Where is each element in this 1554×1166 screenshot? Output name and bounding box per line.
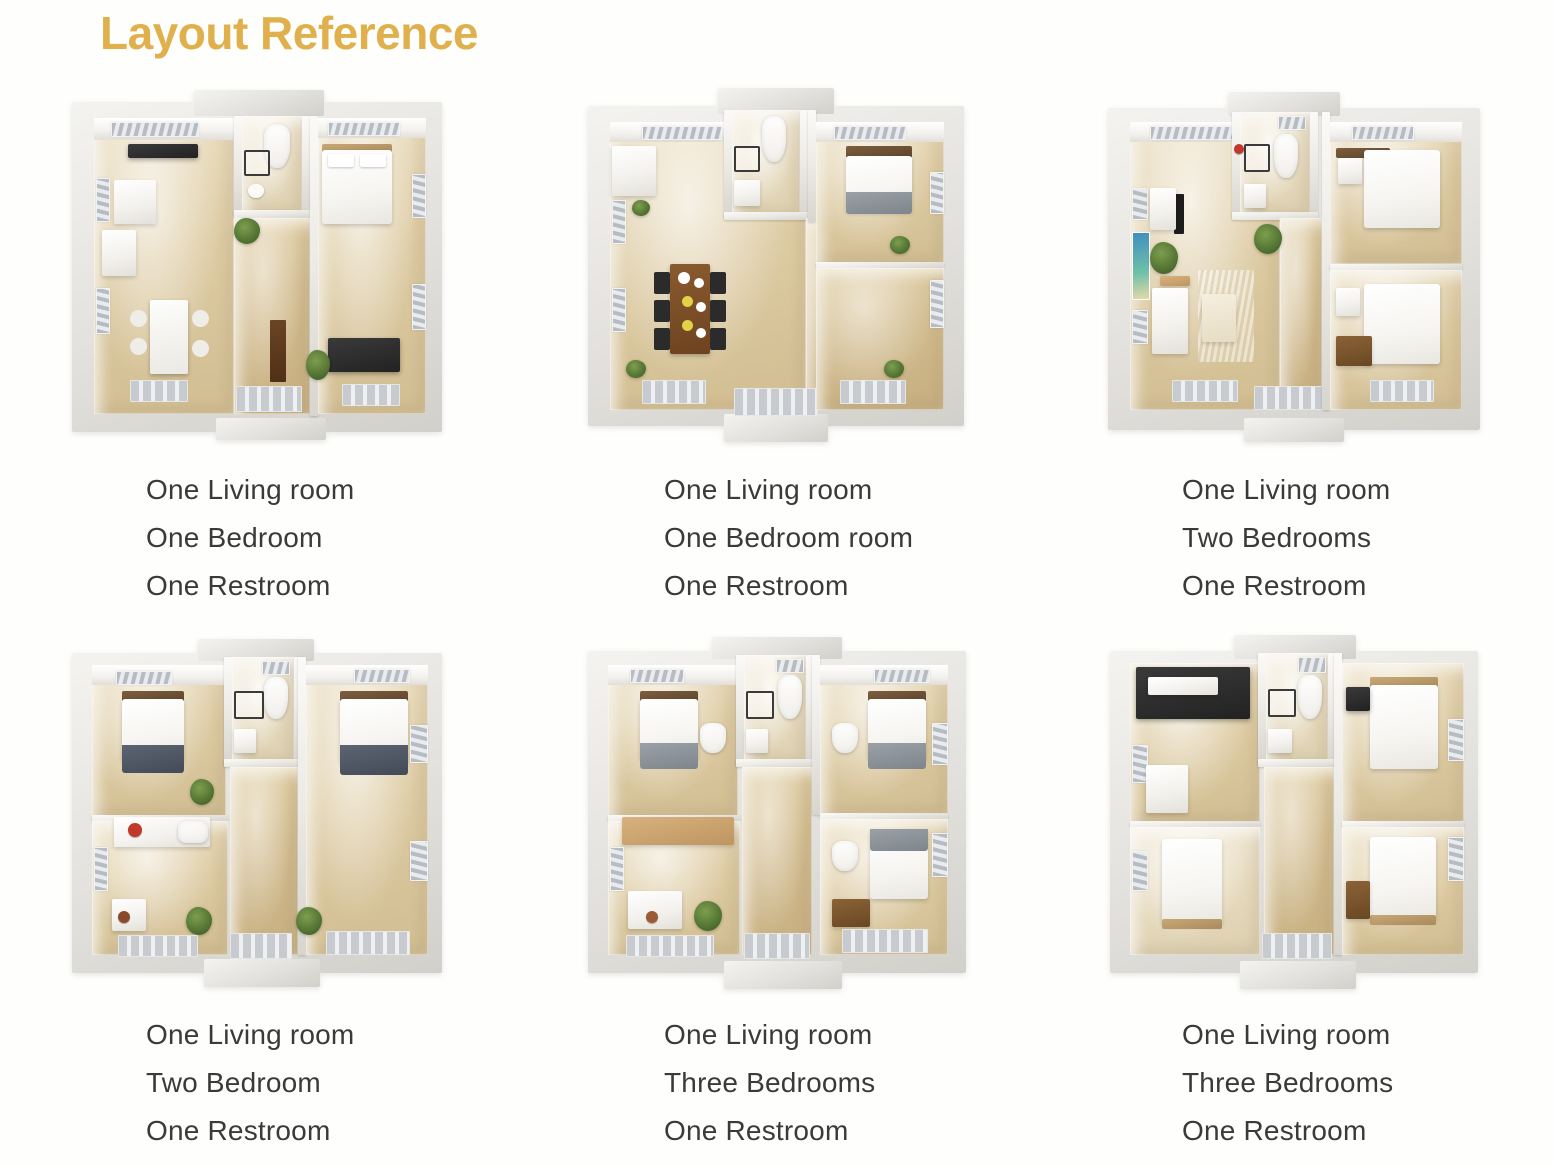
floor-plan-image-1 (66, 88, 452, 438)
floor-plan-image-2 (584, 88, 970, 438)
caption-line: One Restroom (146, 562, 452, 610)
caption-line: One Living room (664, 1011, 970, 1059)
plan-card-2[interactable]: One Living room One Bedroom room One Res… (518, 88, 1036, 633)
caption-line: Two Bedrooms (1182, 514, 1488, 562)
caption-line: Two Bedroom (146, 1059, 452, 1107)
plan-card-4[interactable]: One Living room Two Bedroom One Restroom (0, 633, 518, 1166)
caption-line: One Living room (1182, 466, 1488, 514)
plan-card-1[interactable]: One Living room One Bedroom One Restroom (0, 88, 518, 633)
caption-line: One Bedroom (146, 514, 452, 562)
plan-card-6[interactable]: One Living room Three Bedrooms One Restr… (1036, 633, 1554, 1166)
plan-grid: One Living room One Bedroom One Restroom (0, 88, 1554, 1166)
caption-line: One Restroom (664, 562, 970, 610)
plan-caption-3: One Living room Two Bedrooms One Restroo… (1102, 466, 1488, 610)
caption-line: One Restroom (664, 1107, 970, 1155)
caption-line: One Living room (1182, 1011, 1488, 1059)
page-title: Layout Reference (100, 8, 478, 59)
plan-caption-1: One Living room One Bedroom One Restroom (66, 466, 452, 610)
plan-card-5[interactable]: One Living room Three Bedrooms One Restr… (518, 633, 1036, 1166)
caption-line: Three Bedrooms (1182, 1059, 1488, 1107)
plan-caption-2: One Living room One Bedroom room One Res… (584, 466, 970, 610)
plan-caption-5: One Living room Three Bedrooms One Restr… (584, 1011, 970, 1155)
floor-plan-image-5 (584, 633, 970, 983)
caption-line: One Living room (146, 1011, 452, 1059)
floor-plan-image-6 (1102, 633, 1488, 983)
floor-plan-image-3 (1102, 88, 1488, 438)
caption-line: One Restroom (146, 1107, 452, 1155)
plan-caption-6: One Living room Three Bedrooms One Restr… (1102, 1011, 1488, 1155)
caption-line: One Bedroom room (664, 514, 970, 562)
caption-line: One Restroom (1182, 1107, 1488, 1155)
floor-plan-image-4 (66, 633, 452, 983)
caption-line: One Restroom (1182, 562, 1488, 610)
plan-card-3[interactable]: One Living room Two Bedrooms One Restroo… (1036, 88, 1554, 633)
caption-line: One Living room (664, 466, 970, 514)
caption-line: Three Bedrooms (664, 1059, 970, 1107)
plan-caption-4: One Living room Two Bedroom One Restroom (66, 1011, 452, 1155)
caption-line: One Living room (146, 466, 452, 514)
layout-reference-page: Layout Reference (0, 0, 1554, 1166)
